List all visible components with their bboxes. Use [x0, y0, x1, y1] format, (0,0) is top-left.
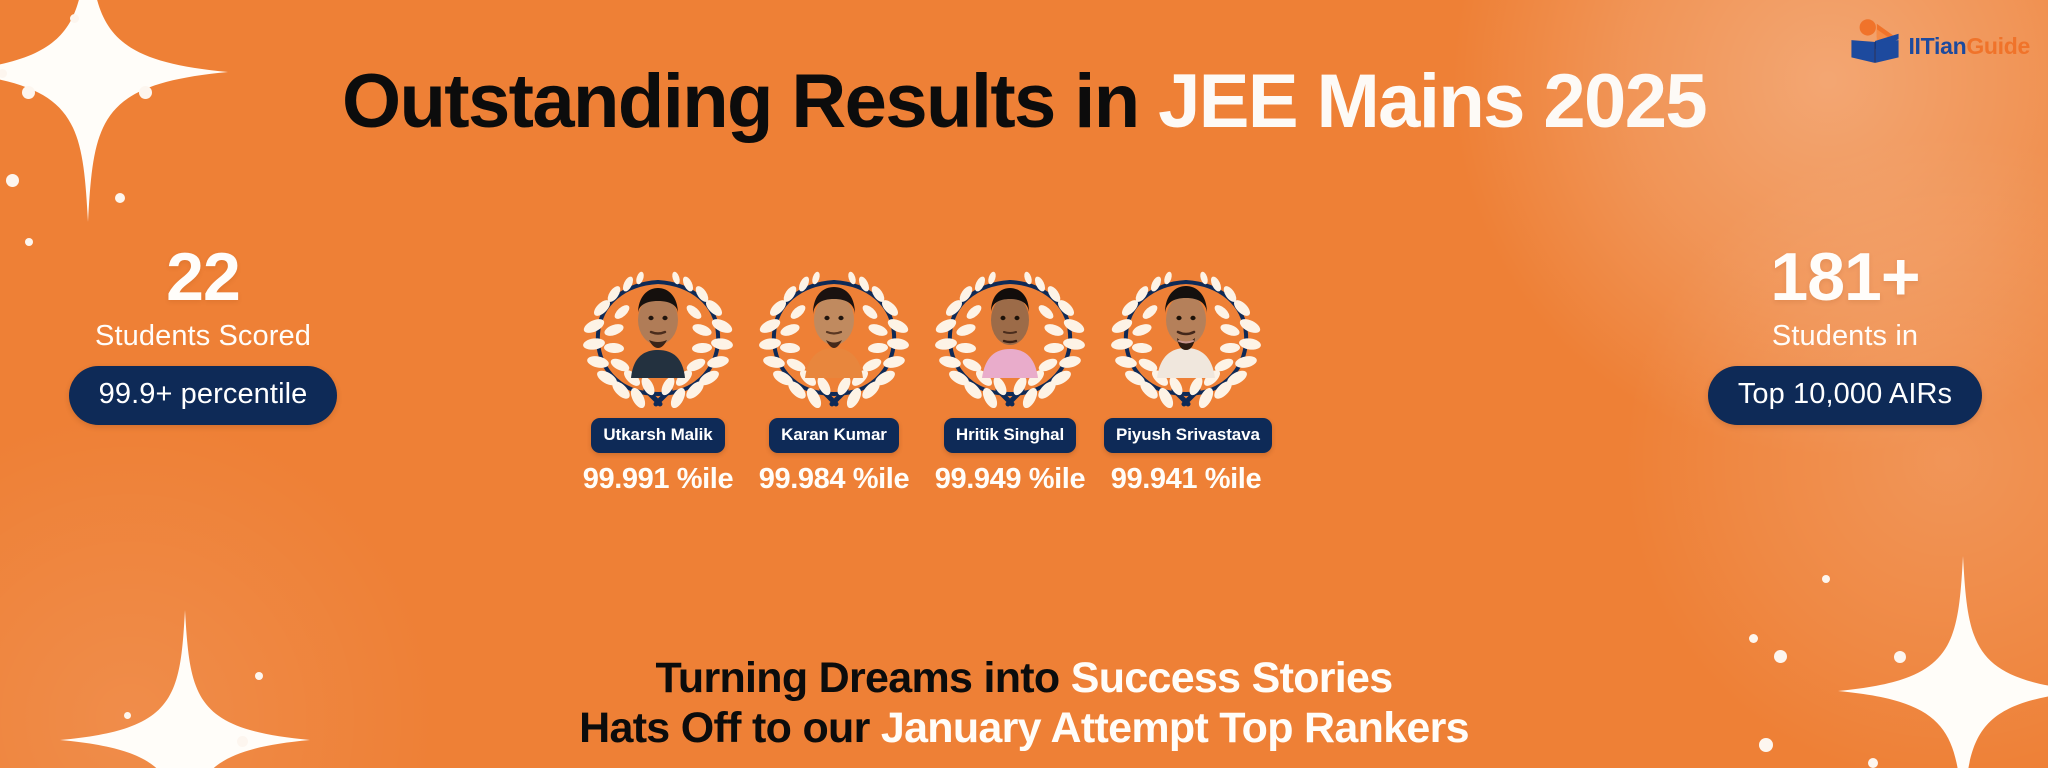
brand-name-part-2: Guide: [1966, 33, 2030, 59]
stat-block-airs: 181+ Students in Top 10,000 AIRs: [1680, 243, 2010, 425]
headline-part-dark: Outstanding Results in: [342, 59, 1158, 144]
topper-photo: [1149, 274, 1223, 378]
laurel-wreath-icon: [928, 268, 1092, 412]
page-title: Outstanding Results in JEE Mains 2025: [0, 62, 2048, 142]
tagline-line-1-dark: Turning Dreams into: [656, 654, 1071, 702]
topper-score: 99.984 %ile: [752, 463, 916, 496]
topper-score: 99.941 %ile: [1104, 463, 1268, 496]
stat-block-percentile: 22 Students Scored 99.9+ percentile: [48, 243, 358, 425]
topper-photo: [797, 274, 871, 378]
sparkle-dot: [1749, 634, 1758, 643]
stat-left-badge: 99.9+ percentile: [69, 366, 338, 425]
stat-left-label: Students Scored: [48, 319, 358, 354]
tagline: Turning Dreams into Success Stories Hats…: [0, 653, 2048, 754]
tagline-line-2-dark: Hats Off to our: [579, 704, 881, 752]
sparkle-dot: [25, 238, 33, 246]
sparkle-dot: [70, 14, 79, 23]
topper-score: 99.991 %ile: [576, 463, 740, 496]
tagline-line-1: Turning Dreams into Success Stories: [0, 653, 2048, 704]
tagline-line-2-light: January Attempt Top Rankers: [881, 704, 1469, 752]
topper-card[interactable]: Karan Kumar 99.984 %ile: [752, 268, 916, 496]
sparkle-dot: [115, 193, 125, 203]
topper-photo: [621, 274, 695, 378]
stat-right-badge: Top 10,000 AIRs: [1708, 366, 1982, 425]
topper-card[interactable]: Piyush Srivastava 99.941 %ile: [1104, 268, 1268, 496]
topper-name: Piyush Srivastava: [1104, 418, 1272, 453]
topper-name: Karan Kumar: [769, 418, 899, 453]
results-banner: IITianGuide Outstanding Results in JEE M…: [0, 0, 2048, 768]
topper-card[interactable]: Utkarsh Malik 99.991 %ile: [576, 268, 740, 496]
stat-left-value: 22: [48, 243, 358, 311]
headline-part-light: JEE Mains 2025: [1158, 59, 1706, 144]
topper-list: Utkarsh Malik 99.991 %ile: [576, 268, 1268, 496]
topper-name: Utkarsh Malik: [591, 418, 724, 453]
tagline-line-1-light: Success Stories: [1071, 654, 1393, 702]
sparkle-dot: [1868, 758, 1878, 768]
sparkle-dot: [1822, 575, 1830, 583]
topper-photo: [973, 274, 1047, 378]
laurel-wreath-icon: [576, 268, 740, 412]
topper-card[interactable]: Hritik Singhal 99.949 %ile: [928, 268, 1092, 496]
tagline-line-2: Hats Off to our January Attempt Top Rank…: [0, 703, 2048, 754]
topper-name: Hritik Singhal: [944, 418, 1076, 453]
sparkle-dot: [6, 174, 19, 187]
laurel-wreath-icon: [1104, 268, 1268, 412]
brand-wordmark: IITianGuide: [1908, 35, 2030, 58]
laurel-wreath-icon: [752, 268, 916, 412]
stat-right-value: 181+: [1680, 243, 2010, 311]
stat-right-label: Students in: [1680, 319, 2010, 354]
topper-score: 99.949 %ile: [928, 463, 1092, 496]
brand-name-part-1: IITian: [1908, 33, 1966, 59]
